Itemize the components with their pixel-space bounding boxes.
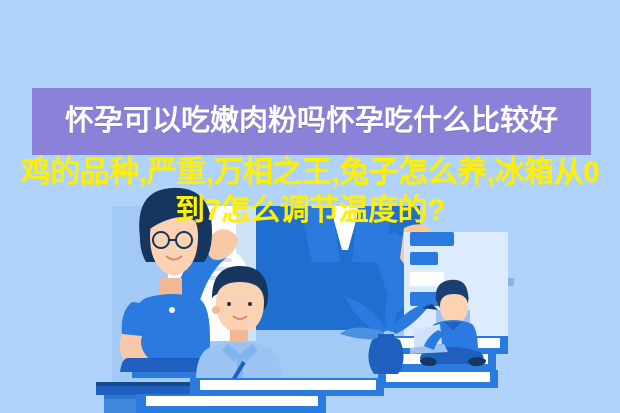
teacher-shirt-button <box>169 307 175 313</box>
title-banner: 怀孕可以吃嫩肉粉吗怀孕吃什么比较好 <box>32 88 591 155</box>
book-step1-pages <box>200 380 376 390</box>
page-title: 怀孕可以吃嫩肉粉吗怀孕吃什么比较好 <box>65 107 558 136</box>
student-neck <box>230 330 248 344</box>
list-block-2 <box>410 252 438 265</box>
plant-vase-neck <box>378 334 394 342</box>
student-eye-left <box>227 302 231 306</box>
student-eye-right <box>248 302 252 306</box>
list-block-3 <box>410 272 444 286</box>
student-ear <box>212 306 220 314</box>
book-bottom-pages <box>146 396 318 406</box>
list-block-1 <box>410 232 454 246</box>
book-step2-pages <box>386 372 490 382</box>
poster-canvas: 怀孕可以吃嫩肉粉吗怀孕吃什么比较好 鸡的品种,严重,万相之王,兔子怎么养,冰箱从… <box>0 0 620 413</box>
floor-panel-left <box>0 372 96 413</box>
subtitle-overlay-text: 鸡的品种,严重,万相之王,兔子怎么养,冰箱从0到7怎么调节温度的? <box>6 154 614 230</box>
